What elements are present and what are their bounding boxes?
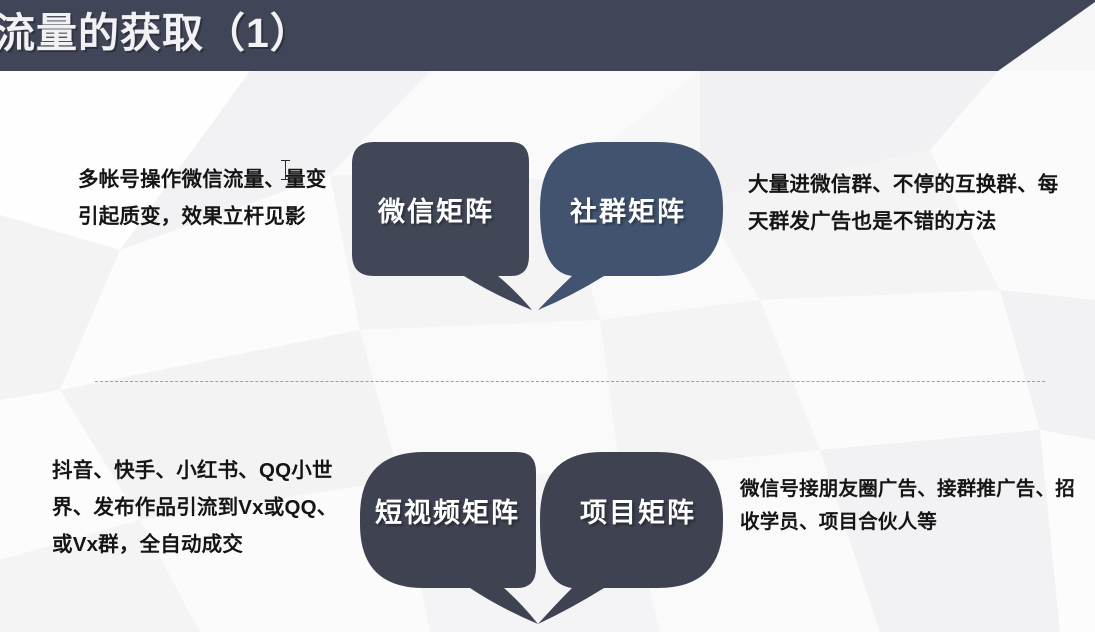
row1-left-bubble-label: 微信矩阵	[378, 190, 494, 229]
page-title: 流量的获取（1）	[0, 2, 312, 64]
row1-right-description: 大量进微信群、不停的互换群、每天群发广告也是不错的方法	[748, 166, 1078, 240]
row2-right-description: 微信号接朋友圈广告、接群推广告、招收学员、项目合伙人等	[740, 473, 1080, 539]
slide-canvas: 流量的获取（1） 多帐号操作微信流量、量变引起质变，效果立杆见影 微信矩阵 社群…	[0, 0, 1095, 632]
row2-left-bubble[interactable]	[352, 446, 562, 626]
row1-right-bubble-label: 社群矩阵	[570, 190, 686, 229]
row2-left-bubble-label: 短视频矩阵	[375, 491, 520, 530]
row2-left-description: 抖音、快手、小红书、QQ小世界、发布作品引流到Vx或QQ、或Vx群，全自动成交	[52, 452, 352, 563]
row1-left-description: 多帐号操作微信流量、量变引起质变，效果立杆见影	[78, 161, 328, 235]
row2-right-bubble-label: 项目矩阵	[580, 491, 696, 530]
section-divider	[95, 381, 1045, 382]
row2-right-bubble[interactable]	[536, 446, 736, 626]
